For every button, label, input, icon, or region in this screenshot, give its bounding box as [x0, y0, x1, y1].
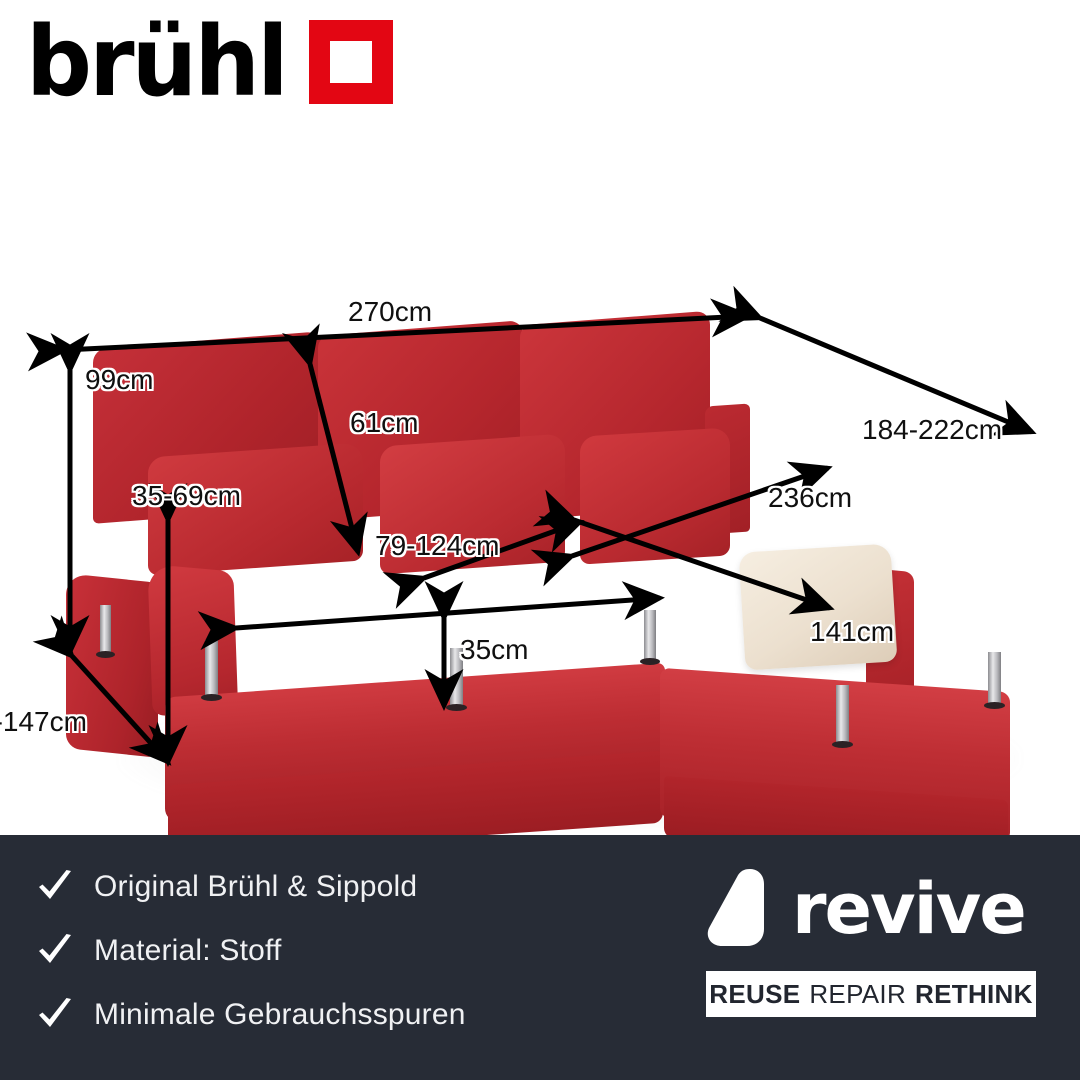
product-listing-image: brühl	[0, 0, 1080, 1080]
tagline-rethink: RETHINK	[915, 979, 1033, 1010]
revive-logo: revive REUSE REPAIR RETHINK	[706, 861, 1036, 1017]
sofa-armrest-left	[66, 573, 158, 758]
feature-list: Original Brühl & Sippold Material: Stoff…	[32, 855, 466, 1047]
check-icon	[32, 995, 78, 1035]
brand-logo: brühl	[26, 14, 393, 110]
list-item: Material: Stoff	[32, 919, 466, 983]
accent-pillow	[739, 543, 898, 670]
revive-leaf-icon	[706, 867, 778, 951]
revive-wordmark: revive	[792, 874, 1025, 944]
sofa-leg-chaise-front	[836, 685, 849, 743]
sofa-back-cushion-middle	[380, 434, 565, 575]
list-item: Minimale Gebrauchsspuren	[32, 983, 466, 1047]
info-banner: Original Brühl & Sippold Material: Stoff…	[0, 835, 1080, 1080]
sofa-leg-back-left	[100, 605, 111, 653]
product-photo	[0, 140, 1080, 835]
check-icon	[32, 931, 78, 971]
feature-label: Original Brühl & Sippold	[94, 870, 417, 904]
sofa-back-cushion-left	[148, 442, 363, 575]
sofa-leg-corner	[644, 610, 656, 660]
tagline-reuse: REUSE	[709, 979, 800, 1010]
feature-label: Material: Stoff	[94, 934, 282, 968]
bruehl-square-logo	[309, 20, 393, 104]
revive-tagline: REUSE REPAIR RETHINK	[706, 971, 1036, 1017]
sofa-leg-front-mid	[450, 648, 463, 706]
feature-label: Minimale Gebrauchsspuren	[94, 998, 466, 1032]
sofa-leg-chaise-back	[988, 652, 1001, 704]
sofa-back-cushion-right	[580, 427, 730, 564]
tagline-repair: REPAIR	[809, 979, 906, 1010]
list-item: Original Brühl & Sippold	[32, 855, 466, 919]
sofa-leg-front-left	[205, 640, 218, 696]
brand-wordmark: brühl	[26, 14, 286, 110]
check-icon	[32, 867, 78, 907]
